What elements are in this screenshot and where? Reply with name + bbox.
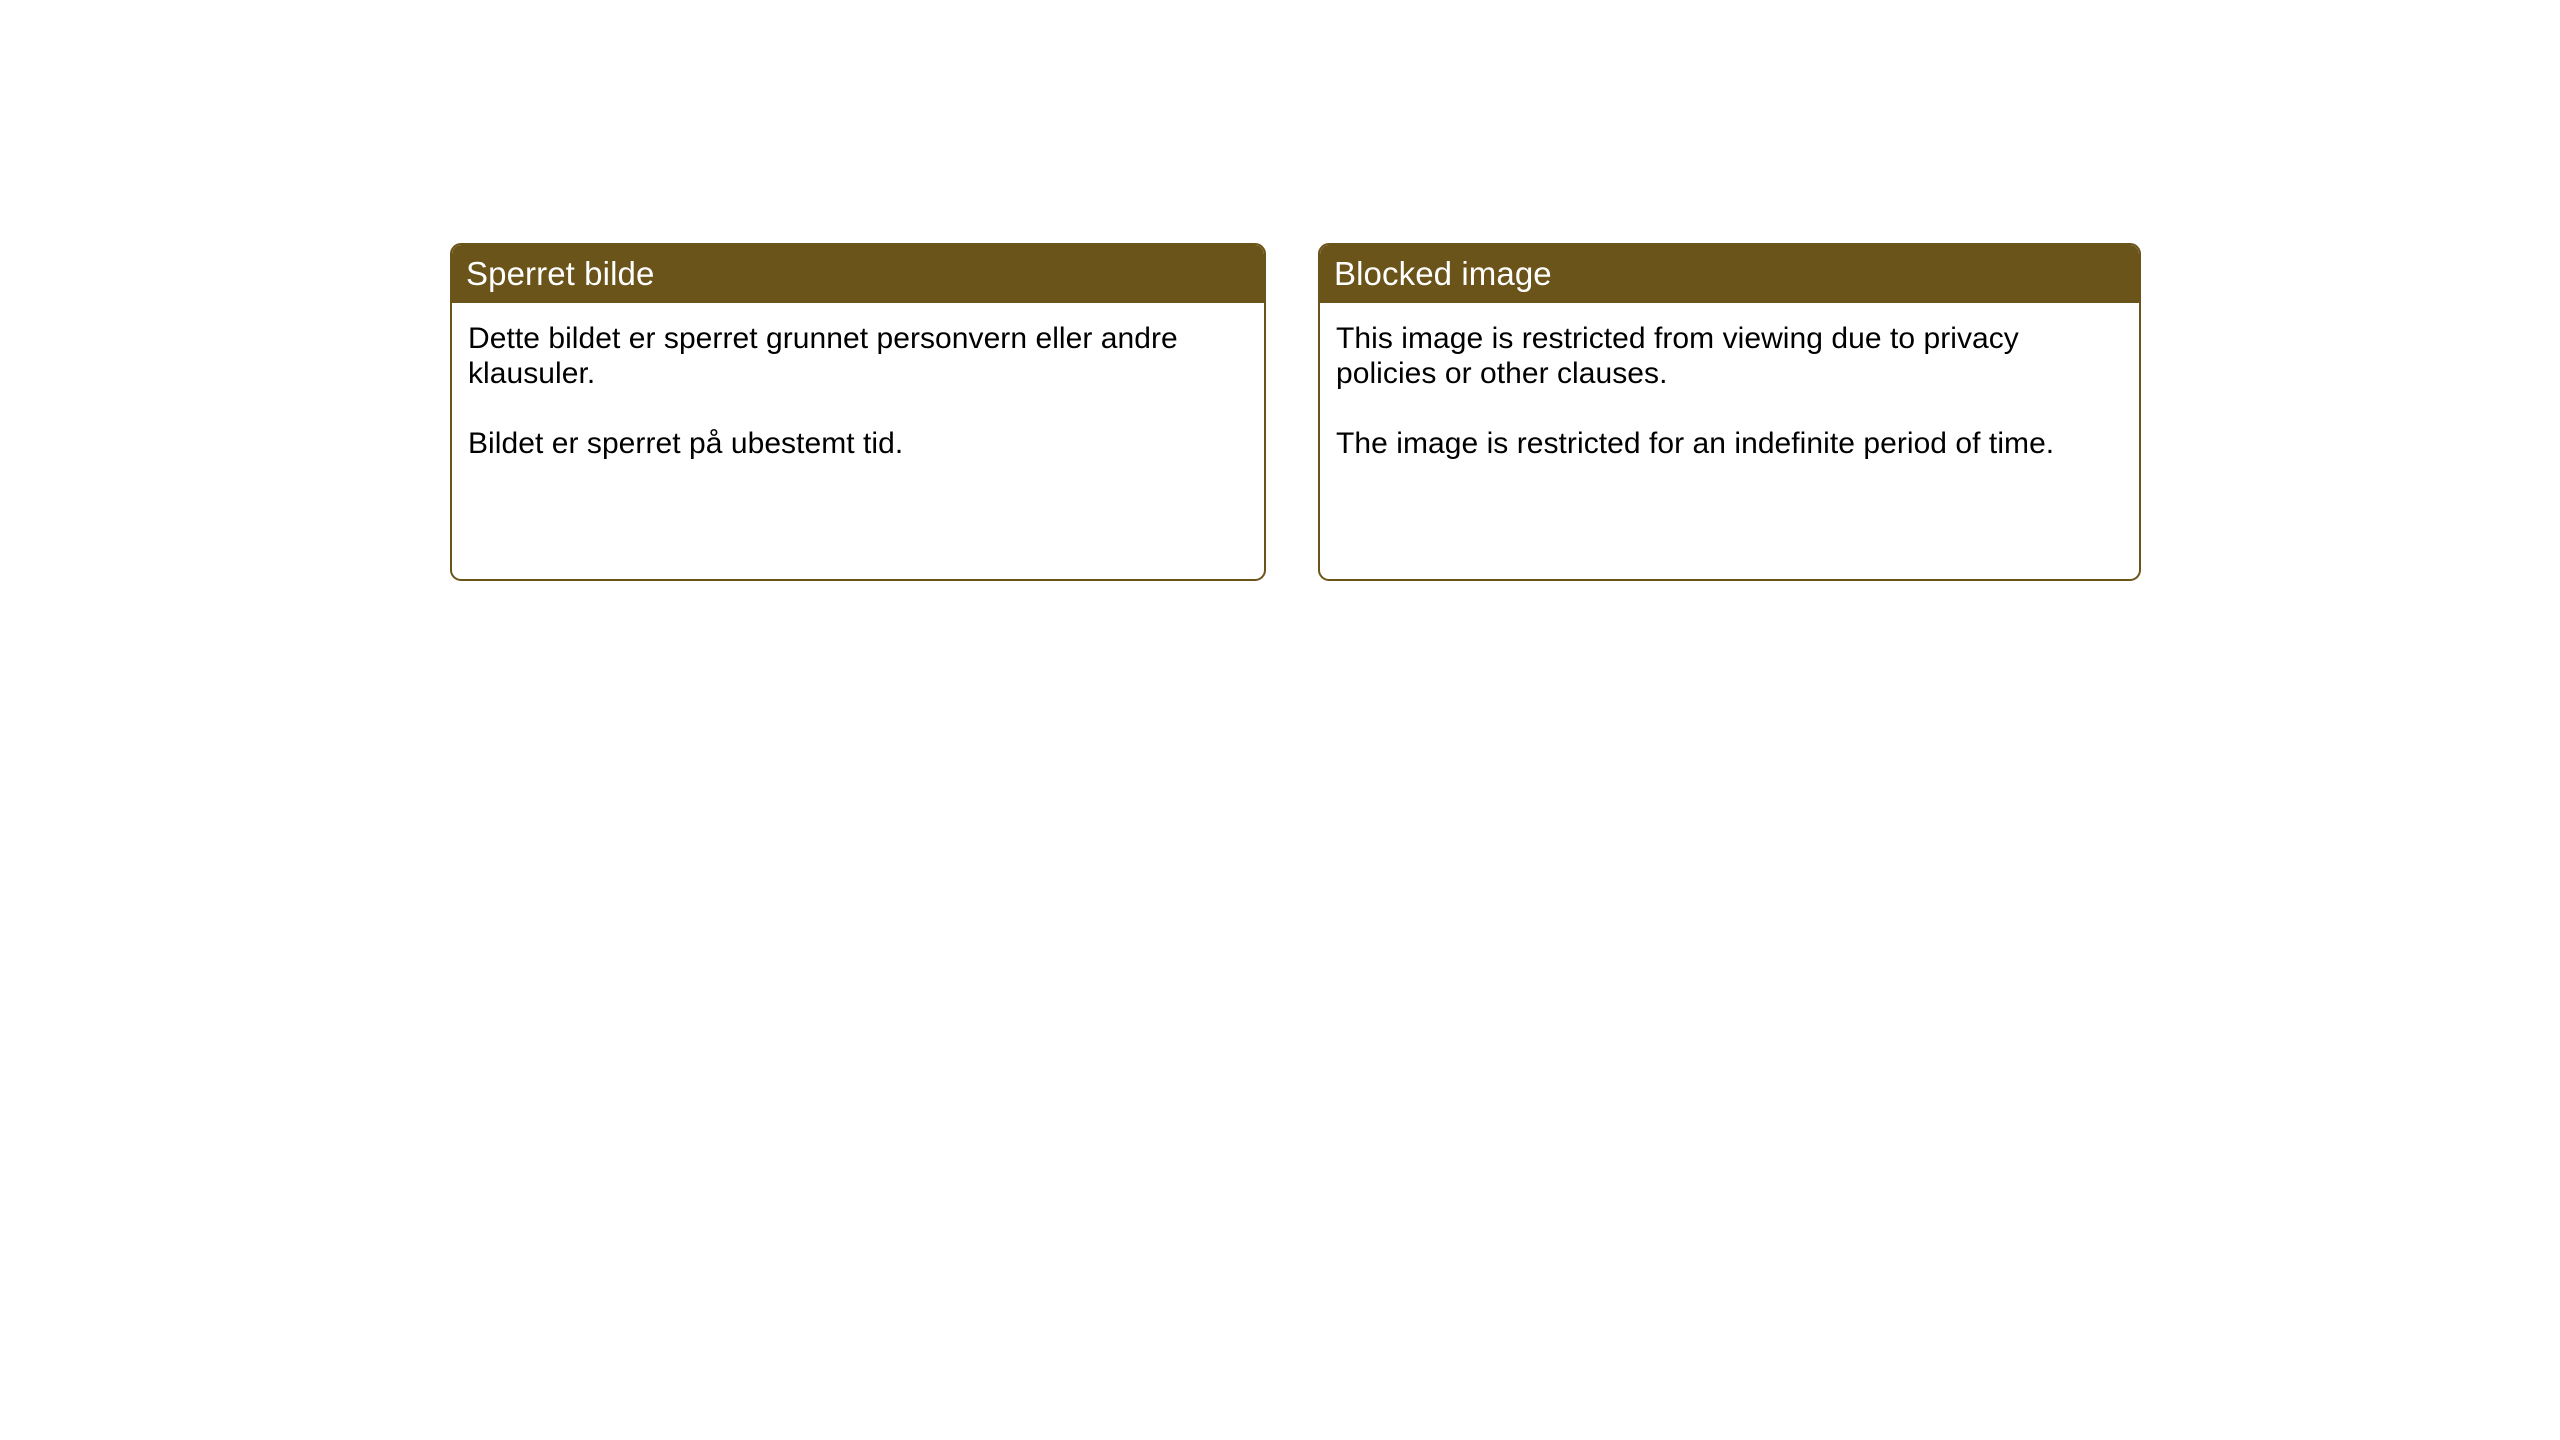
card-body-english: This image is restricted from viewing du… — [1320, 303, 2139, 461]
card-header-english: Blocked image — [1320, 245, 2139, 303]
card-title-english: Blocked image — [1334, 255, 1552, 293]
blocked-image-notice-card-english: Blocked image This image is restricted f… — [1318, 243, 2141, 581]
card-body-norwegian: Dette bildet er sperret grunnet personve… — [452, 303, 1264, 461]
card-paragraph-english-1: This image is restricted from viewing du… — [1336, 321, 2123, 391]
card-paragraph-norwegian-2: Bildet er sperret på ubestemt tid. — [468, 426, 1248, 461]
card-paragraph-norwegian-1: Dette bildet er sperret grunnet personve… — [468, 321, 1248, 391]
page-canvas: Sperret bilde Dette bildet er sperret gr… — [0, 0, 2560, 1440]
card-header-norwegian: Sperret bilde — [452, 245, 1264, 303]
card-title-norwegian: Sperret bilde — [466, 255, 654, 293]
card-paragraph-english-2: The image is restricted for an indefinit… — [1336, 426, 2123, 461]
blocked-image-notice-card-norwegian: Sperret bilde Dette bildet er sperret gr… — [450, 243, 1266, 581]
